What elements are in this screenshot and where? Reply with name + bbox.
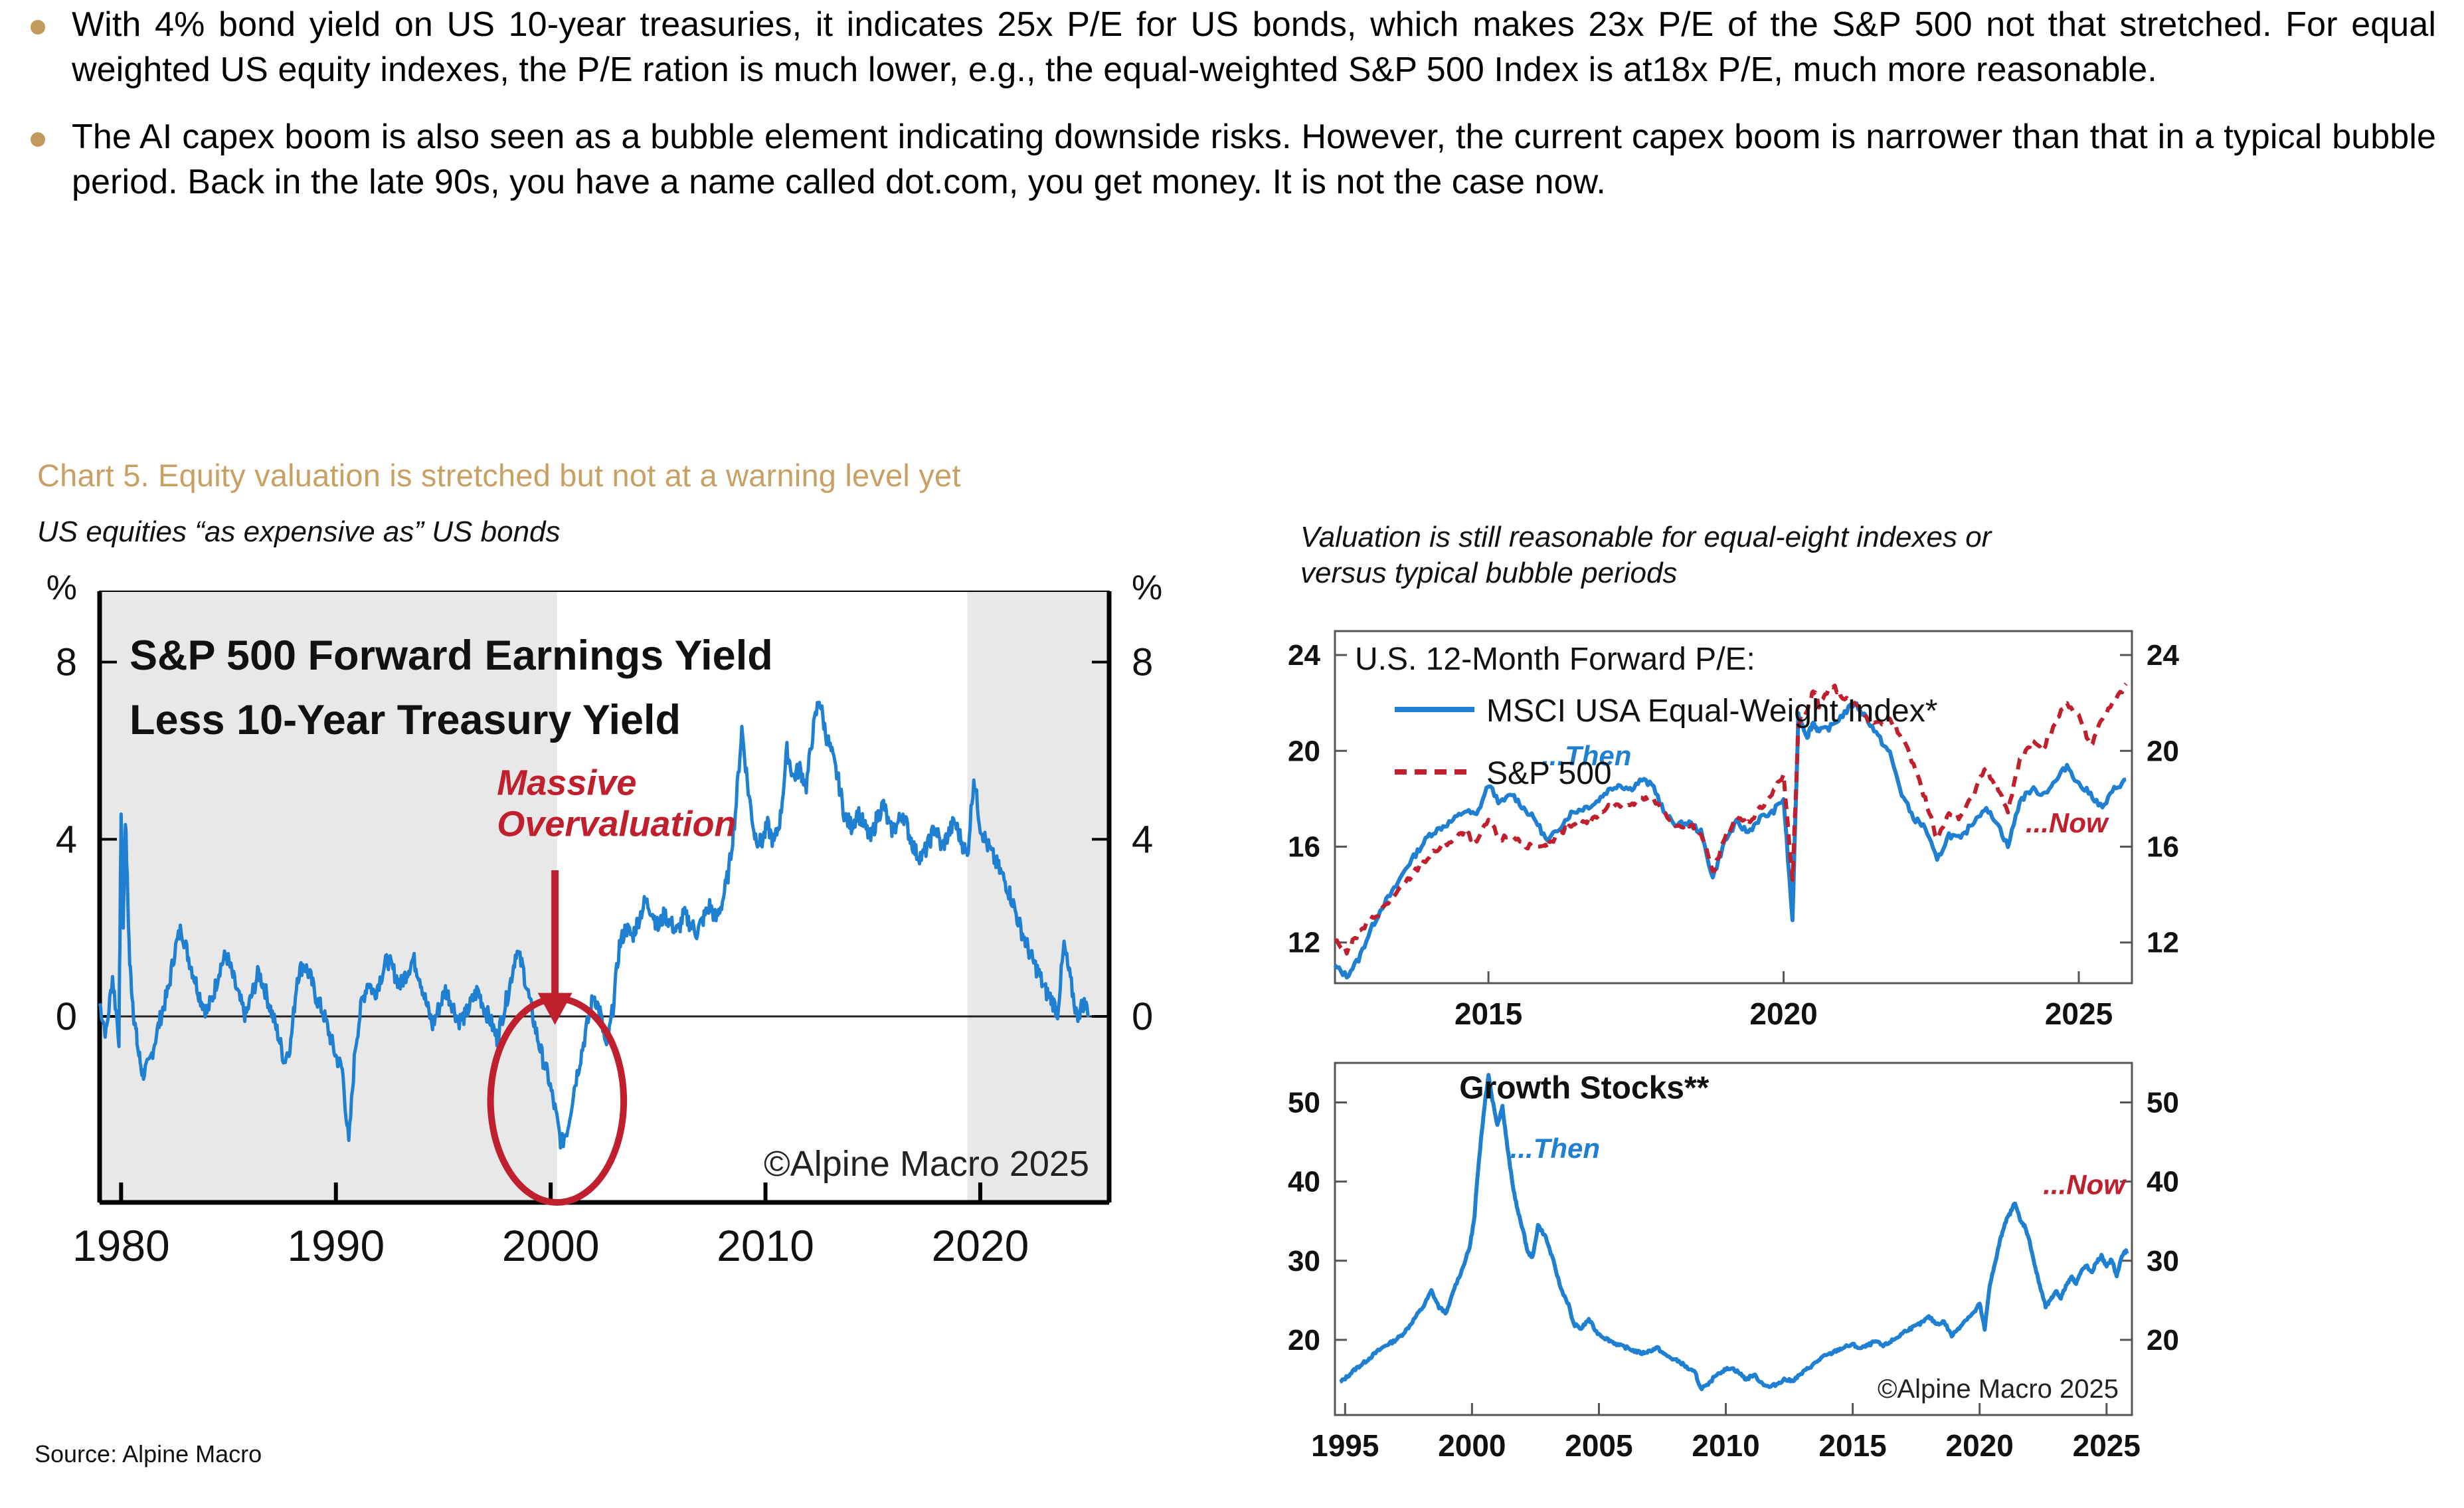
copyright-label: ©Alpine Macro 2025 <box>1878 1374 2119 1404</box>
y-axis-unit-right: % <box>1132 569 1162 607</box>
bullet-text-2: The AI capex boom is also seen as a bubb… <box>72 115 2436 205</box>
y-tick-label: 24 <box>1288 639 1320 672</box>
bullet-marker-icon <box>31 20 45 35</box>
bullet-text-1: With 4% bond yield on US 10-year treasur… <box>72 3 2436 92</box>
x-tick-label: 1990 <box>287 1221 385 1270</box>
y-tick-label: 40 <box>2147 1166 2179 1198</box>
y-tick-label: 8 <box>56 641 77 684</box>
y-tick-label: 0 <box>56 995 77 1038</box>
tr-chart-title: U.S. 12-Month Forward P/E: <box>1355 642 1755 677</box>
source-note: Source: Alpine Macro <box>35 1440 262 1468</box>
plot-frame <box>1335 1063 2132 1415</box>
x-tick-label: 1995 <box>1311 1428 1379 1463</box>
right-chart-subtitle-line1: Valuation is still reasonable for equal-… <box>1300 519 2336 555</box>
x-tick-label: 2020 <box>1946 1428 2014 1463</box>
y-tick-label: 8 <box>1132 641 1153 684</box>
y-tick-label: 12 <box>1288 927 1320 959</box>
right-chart-subtitle-line2: versus typical bubble periods <box>1300 555 2336 591</box>
x-tick-label: 2020 <box>932 1221 1029 1270</box>
annotation-massive-line1: Massive <box>497 763 636 803</box>
y-tick-label: 20 <box>1288 1324 1320 1357</box>
y-axis-unit-left: % <box>46 569 77 607</box>
left-chart-title-line1: S&P 500 Forward Earnings Yield <box>130 632 773 679</box>
x-tick-label: 2025 <box>2045 996 2113 1031</box>
right-chart-subtitle: Valuation is still reasonable for equal-… <box>1300 519 2336 591</box>
x-tick-label: 1980 <box>72 1221 170 1270</box>
y-tick-label: 40 <box>1288 1166 1320 1198</box>
copyright-label: ©Alpine Macro 2025 <box>764 1144 1089 1184</box>
x-tick-label: 2005 <box>1565 1428 1632 1463</box>
x-tick-label: 2010 <box>717 1221 814 1270</box>
annotation-now: ...Now <box>2043 1169 2127 1200</box>
annotation-now: ...Now <box>2026 807 2109 838</box>
y-tick-label: 30 <box>1288 1245 1320 1277</box>
y-tick-label: 24 <box>2147 639 2179 672</box>
x-tick-label: 2015 <box>1818 1428 1886 1463</box>
chart-heading: Chart 5. Equity valuation is stretched b… <box>37 457 961 494</box>
legend-label-2: S&P 500 <box>1486 756 1612 791</box>
br-chart-title: Growth Stocks** <box>1459 1071 1709 1106</box>
y-tick-label: 4 <box>56 818 77 861</box>
y-tick-label: 12 <box>2147 927 2179 959</box>
x-tick-label: 2020 <box>1749 996 1817 1031</box>
chart-us-12m-forward-pe: 1212161620202424201520202025...Then...No… <box>1262 605 2258 1070</box>
recession-shading <box>968 591 1109 1202</box>
y-tick-label: 50 <box>1288 1087 1320 1119</box>
annotation-then: ...Then <box>1510 1133 1600 1164</box>
annotation-massive-line2: Overvaluation <box>497 804 736 844</box>
bullet-marker-icon <box>31 132 45 147</box>
chart-sp500-earnings-yield-spread: 004488%%19801990200020102020S&P 500 Forw… <box>20 571 1202 1315</box>
bullet-item: With 4% bond yield on US 10-year treasur… <box>0 3 2464 92</box>
y-tick-label: 0 <box>1132 995 1153 1038</box>
y-tick-label: 20 <box>1288 735 1320 767</box>
x-tick-label: 2015 <box>1454 996 1522 1031</box>
x-tick-label: 2025 <box>2073 1428 2141 1463</box>
bullet-item: The AI capex boom is also seen as a bubb… <box>0 115 2464 205</box>
legend-label-1: MSCI USA Equal-Weight Index* <box>1486 694 1937 729</box>
left-chart-title-line2: Less 10-Year Treasury Yield <box>130 697 681 743</box>
series-line-1 <box>1335 703 2126 977</box>
series-line-1 <box>1340 1075 2127 1389</box>
y-tick-label: 20 <box>2147 1324 2179 1357</box>
chart-growth-stocks-pe: 2020303040405050199520002005201020152020… <box>1262 1043 2258 1508</box>
y-tick-label: 20 <box>2147 735 2179 767</box>
x-tick-label: 2000 <box>1438 1428 1506 1463</box>
x-tick-label: 2010 <box>1692 1428 1759 1463</box>
y-tick-label: 16 <box>1288 830 1320 863</box>
plot-frame <box>1335 631 2132 983</box>
bullet-list: With 4% bond yield on US 10-year treasur… <box>0 0 2464 227</box>
y-tick-label: 30 <box>2147 1245 2179 1277</box>
x-tick-label: 2000 <box>502 1221 600 1270</box>
y-tick-label: 50 <box>2147 1087 2179 1119</box>
left-chart-subtitle: US equities “as expensive as” US bonds <box>37 516 561 549</box>
y-tick-label: 16 <box>2147 830 2179 863</box>
y-tick-label: 4 <box>1132 818 1153 861</box>
